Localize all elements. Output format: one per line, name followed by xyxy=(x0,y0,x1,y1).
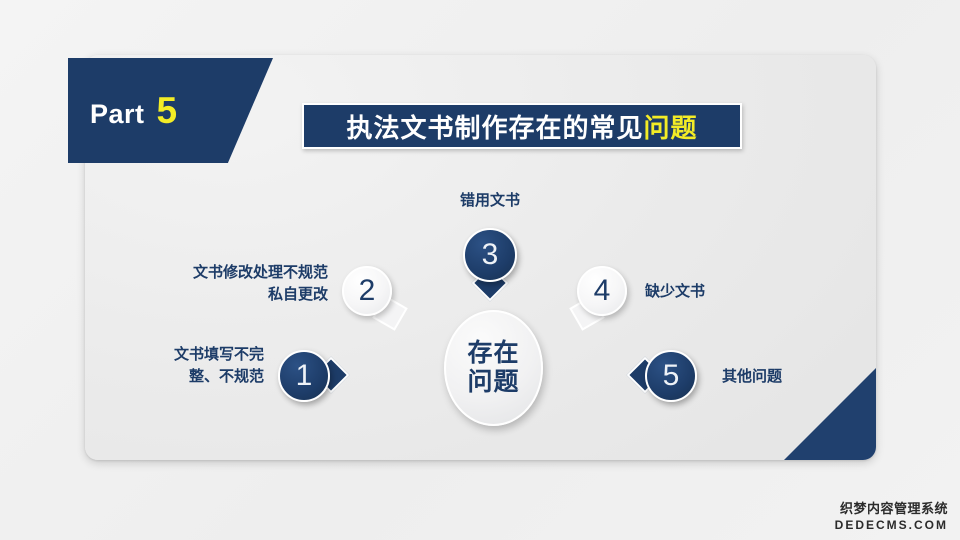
bubble-number-4[interactable]: 4 xyxy=(577,266,627,316)
slide-root: Part 5 执法文书制作存在的常见问题 1 文书填写不完 整、不规范 2 文书… xyxy=(0,0,960,540)
part-number: 5 xyxy=(157,92,178,129)
node-label-3: 错用文书 xyxy=(430,190,550,212)
node-label-2: 文书修改处理不规范 私自更改 xyxy=(150,262,328,306)
watermark-cn-text: 织梦内容管理系统 xyxy=(835,498,948,517)
watermark-en-text: DEDECMS.COM xyxy=(835,518,948,532)
node-label-4: 缺少文书 xyxy=(645,281,805,303)
page-title-highlight: 问题 xyxy=(644,113,698,143)
part-label: Part xyxy=(90,99,145,130)
bubble-number-5[interactable]: 5 xyxy=(645,350,697,402)
watermark: 织梦内容管理系统 DEDECMS.COM xyxy=(835,498,948,532)
node-label-5: 其他问题 xyxy=(722,366,882,388)
node-label-1: 文书填写不完 整、不规范 xyxy=(130,344,264,388)
page-title: 执法文书制作存在的常见问题 xyxy=(346,108,697,145)
part-banner-inner: Part 5 xyxy=(90,92,177,130)
bubble-number-2[interactable]: 2 xyxy=(342,266,392,316)
center-node-label: 存在 问题 xyxy=(467,339,519,398)
page-title-prefix: 执法文书制作存在的常见 xyxy=(346,113,643,143)
center-node[interactable]: 存在 问题 xyxy=(444,310,543,426)
bubble-number-1[interactable]: 1 xyxy=(278,350,330,402)
section-title-bar: 执法文书制作存在的常见问题 xyxy=(302,103,742,149)
bubble-number-3[interactable]: 3 xyxy=(463,228,517,282)
